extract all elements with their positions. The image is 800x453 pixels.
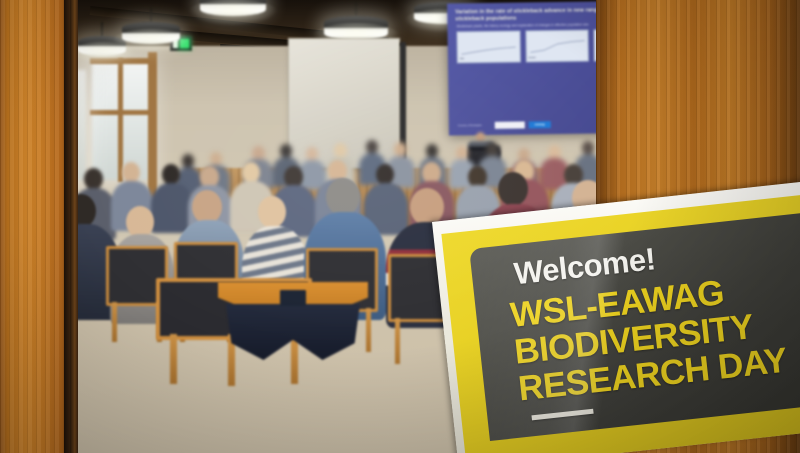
audience-head bbox=[306, 147, 318, 161]
jacket-on-chair bbox=[218, 282, 368, 344]
audience-head bbox=[498, 172, 528, 206]
audience-head bbox=[122, 162, 140, 183]
pendant-lamp bbox=[324, 16, 388, 40]
slide-chart-panel: lake bbox=[456, 31, 520, 64]
audience-head bbox=[162, 164, 180, 185]
audience-head bbox=[486, 142, 499, 157]
audience-head bbox=[582, 141, 594, 155]
audience-head bbox=[84, 168, 103, 190]
photo-scene: Variation in the rate of stickleback adv… bbox=[0, 0, 800, 453]
slide-footer-text: Country of Ecologies bbox=[458, 124, 482, 127]
welcome-sign: Welcome! WSL-EAWAG BIODIVERSITY RESEARCH… bbox=[432, 180, 800, 453]
chair-leg bbox=[170, 334, 177, 384]
chair-leg bbox=[112, 302, 117, 342]
lamp-shade bbox=[122, 22, 180, 44]
audience-head bbox=[210, 152, 222, 166]
pendant-lamp bbox=[200, 0, 266, 16]
lamp-shade bbox=[324, 16, 388, 40]
door-panel-left[interactable] bbox=[0, 0, 74, 453]
eawag-logo: eawag bbox=[529, 121, 551, 128]
audience-head bbox=[326, 178, 360, 216]
wsl-logo bbox=[495, 121, 525, 128]
audience-head bbox=[394, 142, 407, 157]
sign-divider-rule bbox=[531, 409, 593, 421]
lamp-shade bbox=[200, 0, 266, 16]
door-jamb-left bbox=[70, 0, 78, 453]
slide-chart-panel: stream bbox=[525, 30, 589, 63]
audience-body bbox=[151, 183, 193, 233]
lamp-shade bbox=[78, 36, 126, 56]
audience-head bbox=[376, 164, 394, 185]
chair-leg bbox=[395, 318, 400, 364]
slide-panel-label: stream bbox=[529, 56, 536, 59]
slide-panel-label: lake bbox=[460, 57, 464, 60]
jacket-label-tag bbox=[280, 290, 306, 306]
audience-head bbox=[242, 162, 260, 183]
audience-head bbox=[182, 154, 194, 168]
audience-head bbox=[334, 143, 347, 158]
pendant-lamp bbox=[122, 22, 180, 44]
sign-dark-panel: Welcome! WSL-EAWAG BIODIVERSITY RESEARCH… bbox=[469, 210, 800, 441]
audience-head bbox=[258, 196, 286, 228]
audience-head bbox=[192, 190, 222, 224]
audience-head bbox=[456, 146, 468, 160]
audience-head bbox=[366, 140, 378, 154]
audience-head bbox=[280, 144, 292, 158]
audience-head bbox=[426, 144, 438, 158]
pendant-lamp bbox=[78, 36, 126, 56]
